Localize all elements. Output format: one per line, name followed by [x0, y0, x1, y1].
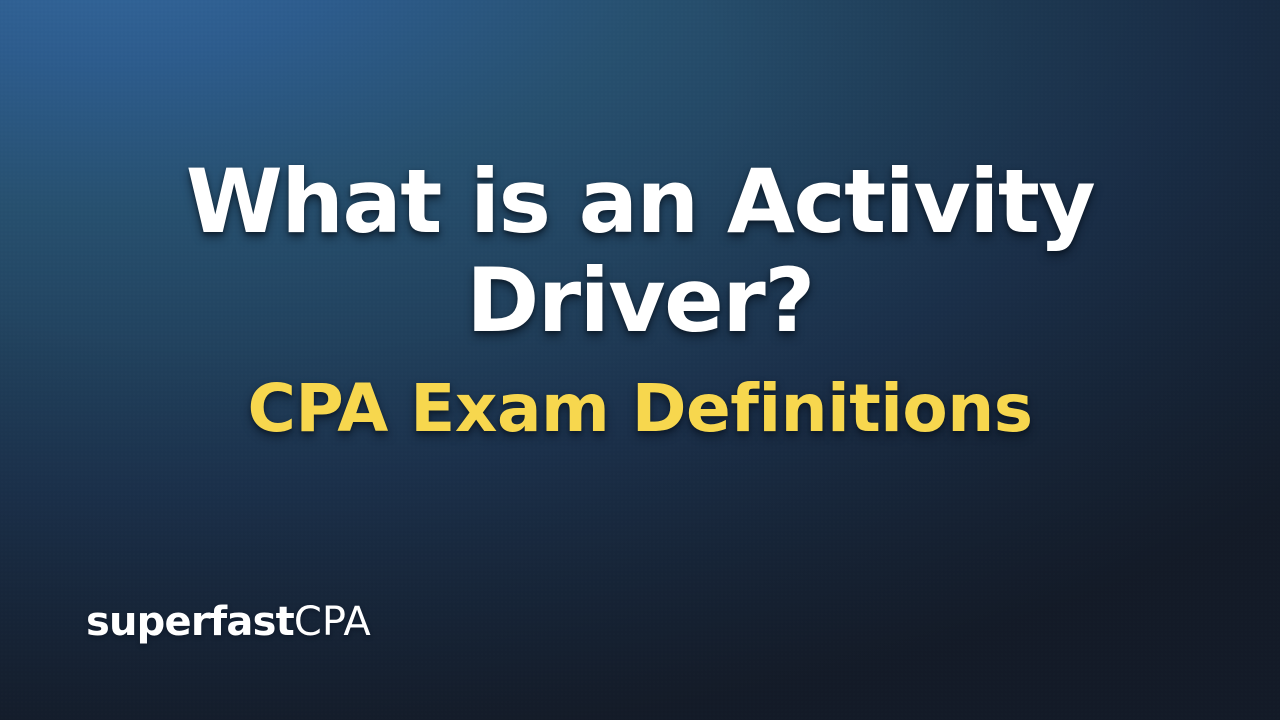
brand-logo: superfastCPA [86, 602, 371, 642]
brand-logo-light: CPA [294, 599, 371, 645]
thumbnail-canvas: What is an Activity Driver? CPA Exam Def… [0, 0, 1280, 720]
page-subtitle: CPA Exam Definitions [100, 373, 1180, 446]
content-layer: What is an Activity Driver? CPA Exam Def… [0, 0, 1280, 720]
title-line-2: Driver? [466, 249, 814, 352]
title-block: What is an Activity Driver? CPA Exam Def… [0, 152, 1280, 445]
title-line-1: What is an Activity [186, 150, 1095, 253]
brand-logo-bold: superfast [86, 599, 294, 645]
page-title: What is an Activity Driver? [100, 152, 1180, 351]
